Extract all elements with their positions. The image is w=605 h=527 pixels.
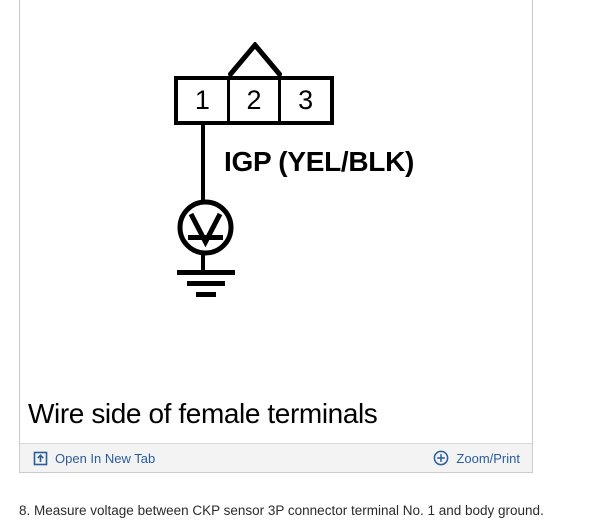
wiring-diagram-figure: 1 2 3 IGP (YEL/BLK) Wire side of female …: [20, 0, 534, 443]
connector-terminal-1: 1: [178, 80, 227, 121]
ground-bar-2: [187, 281, 225, 286]
three-pin-connector: 1 2 3: [174, 42, 336, 127]
wire-circuit-label: IGP (YEL/BLK): [224, 146, 414, 178]
connector-terminal-row: 1 2 3: [174, 76, 334, 125]
chassis-ground-icon: [177, 270, 235, 300]
voltmeter-icon: [177, 199, 234, 256]
open-in-new-tab-label: Open In New Tab: [55, 452, 155, 465]
zoom-plus-icon: [433, 450, 449, 466]
connector-terminal-2: 2: [227, 80, 279, 121]
ground-bar-3: [196, 292, 216, 297]
figure-caption: Wire side of female terminals: [28, 398, 377, 430]
image-viewer-panel: 1 2 3 IGP (YEL/BLK) Wire side of female …: [19, 0, 533, 443]
image-toolbar: Open In New Tab Zoom/Print: [19, 443, 533, 473]
procedure-step-text: 8. Measure voltage between CKP sensor 3P…: [19, 503, 599, 518]
zoom-print-label: Zoom/Print: [456, 452, 520, 465]
open-in-new-tab-button[interactable]: Open In New Tab: [32, 450, 155, 466]
zoom-print-button[interactable]: Zoom/Print: [433, 450, 520, 466]
connector-latch-peak-icon: [228, 42, 282, 77]
connector-terminal-3: 3: [278, 80, 330, 121]
ground-bar-1: [177, 270, 235, 275]
wire-lead-terminal-1: [201, 123, 205, 201]
open-in-new-tab-icon: [32, 450, 48, 466]
